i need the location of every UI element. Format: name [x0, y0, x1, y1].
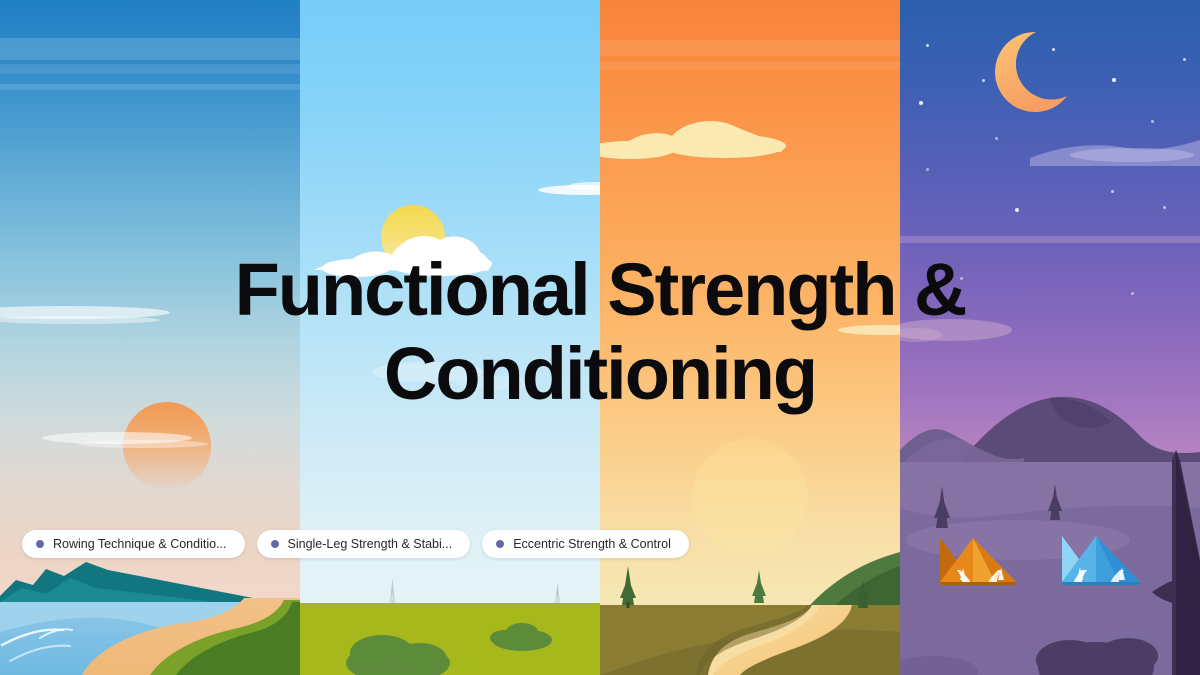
topic-pill-label: Rowing Technique & Conditio... [53, 537, 227, 551]
page-title: Functional Strength & Conditioning [0, 248, 1200, 416]
topic-pill-label: Single-Leg Strength & Stabi... [288, 537, 453, 551]
topic-dot-icon [271, 540, 279, 548]
slide-canvas: Functional Strength & Conditioning Rowin… [0, 0, 1200, 675]
topic-pill-label: Eccentric Strength & Control [513, 537, 671, 551]
topic-pill[interactable]: Rowing Technique & Conditio... [22, 530, 245, 558]
topic-pill[interactable]: Single-Leg Strength & Stabi... [257, 530, 471, 558]
topic-dot-icon [36, 540, 44, 548]
topic-pill[interactable]: Eccentric Strength & Control [482, 530, 689, 558]
topic-dot-icon [496, 540, 504, 548]
topic-pill-list: Rowing Technique & Conditio... Single-Le… [22, 530, 722, 558]
crescent-moon-icon [995, 32, 1067, 112]
